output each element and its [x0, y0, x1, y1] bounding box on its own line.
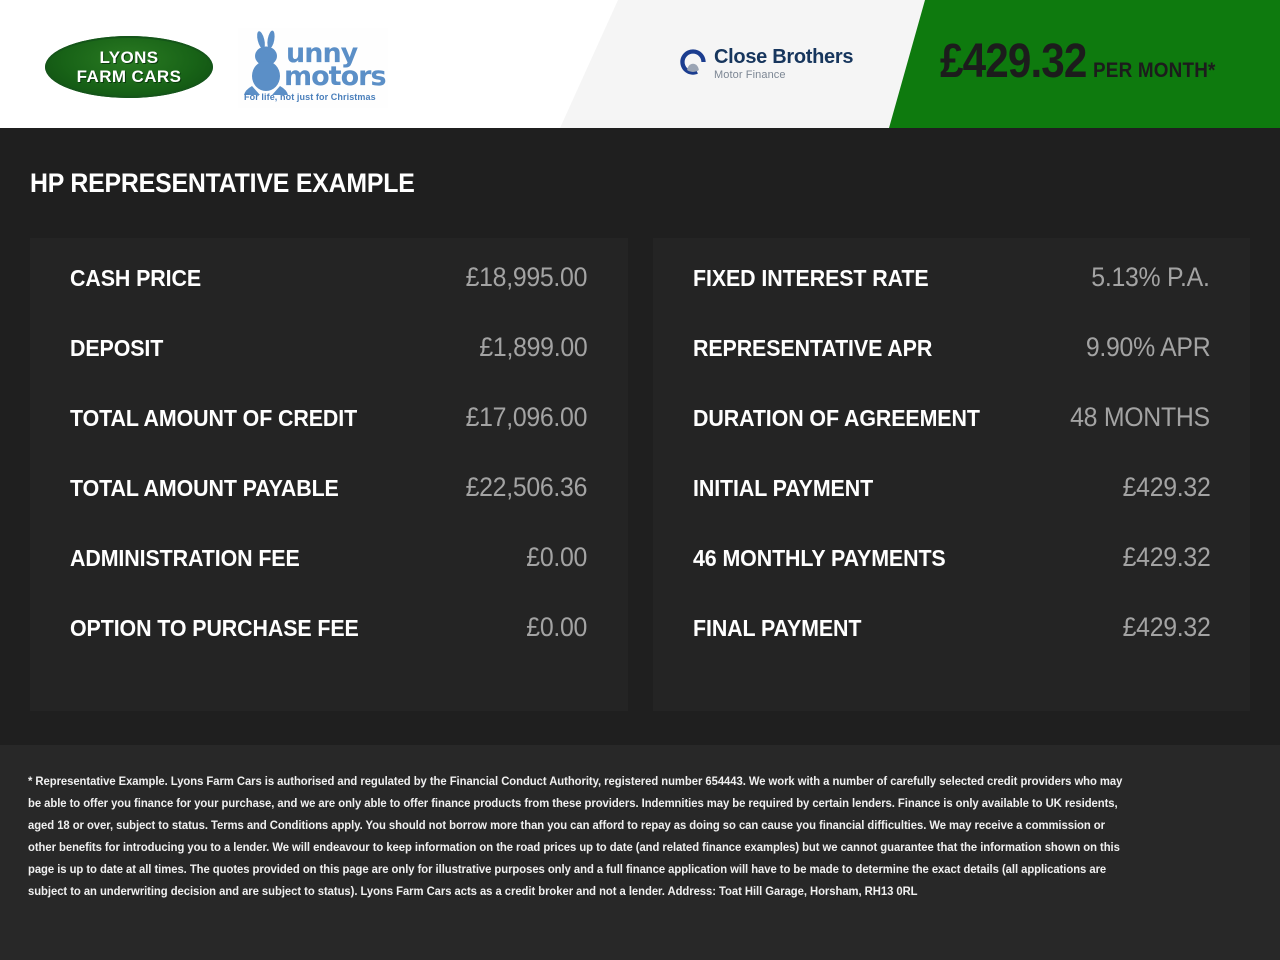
monthly-price-suffix: PER MONTH*: [1093, 59, 1216, 83]
page-header: LYONS FARM CARS unny motors For life, no…: [0, 0, 1280, 128]
detail-row-label: TOTAL AMOUNT OF CREDIT: [70, 405, 357, 432]
detail-row-value: £429.32: [1122, 542, 1210, 573]
detail-row-value: £17,096.00: [466, 402, 588, 433]
detail-row-label: ADMINISTRATION FEE: [70, 545, 300, 572]
bunny-logo-word-motors: motors: [284, 61, 386, 92]
finance-details-panels: CASH PRICE£18,995.00DEPOSIT£1,899.00TOTA…: [30, 238, 1250, 711]
close-brothers-mark-icon: [679, 48, 707, 76]
close-brothers-subtitle: Motor Finance: [714, 68, 853, 82]
detail-row-value: £18,995.00: [466, 262, 588, 293]
detail-row-label: FINAL PAYMENT: [693, 615, 861, 642]
lyons-logo-line1: LYONS: [99, 48, 158, 67]
close-brothers-text: Close Brothers Motor Finance: [714, 47, 853, 82]
detail-row: FIXED INTEREST RATE5.13% P.A.: [693, 262, 1211, 332]
detail-row-label: DURATION OF AGREEMENT: [693, 405, 980, 432]
left-details-panel: CASH PRICE£18,995.00DEPOSIT£1,899.00TOTA…: [30, 238, 628, 711]
main-content: HP REPRESENTATIVE EXAMPLE CASH PRICE£18,…: [0, 128, 1280, 745]
bunny-motors-logo[interactable]: unny motors For life, not just for Chris…: [238, 28, 388, 108]
detail-row-label: FIXED INTEREST RATE: [693, 265, 929, 292]
detail-row: 46 MONTHLY PAYMENTS£429.32: [693, 542, 1211, 612]
detail-row: FINAL PAYMENT£429.32: [693, 612, 1211, 682]
detail-row: TOTAL AMOUNT PAYABLE£22,506.36: [70, 472, 588, 542]
lyons-farm-cars-logo[interactable]: LYONS FARM CARS: [45, 36, 213, 98]
detail-row-value: £429.32: [1122, 472, 1210, 503]
page-title: HP REPRESENTATIVE EXAMPLE: [30, 168, 415, 199]
detail-row: REPRESENTATIVE APR9.90% APR: [693, 332, 1211, 402]
finance-example-page: LYONS FARM CARS unny motors For life, no…: [0, 0, 1280, 960]
detail-row: CASH PRICE£18,995.00: [70, 262, 588, 332]
monthly-price-amount: £429.32: [940, 38, 1087, 86]
detail-row: DEPOSIT£1,899.00: [70, 332, 588, 402]
detail-row-value: £429.32: [1122, 612, 1210, 643]
bunny-logo-tagline: For life, not just for Christmas: [244, 92, 376, 102]
detail-row-value: £0.00: [527, 612, 588, 643]
detail-row: OPTION TO PURCHASE FEE£0.00: [70, 612, 588, 682]
detail-row-value: £0.00: [527, 542, 588, 573]
close-brothers-name: Close Brothers: [714, 47, 853, 68]
detail-row: ADMINISTRATION FEE£0.00: [70, 542, 588, 612]
monthly-price-block: £429.32 PER MONTH*: [940, 38, 1229, 86]
detail-row-value: £22,506.36: [466, 472, 588, 503]
detail-row-label: OPTION TO PURCHASE FEE: [70, 615, 359, 642]
page-footer: * Representative Example. Lyons Farm Car…: [0, 745, 1280, 960]
representative-example-disclaimer: * Representative Example. Lyons Farm Car…: [28, 771, 1135, 903]
lyons-logo-line2: FARM CARS: [77, 67, 182, 86]
detail-row-label: 46 MONTHLY PAYMENTS: [693, 545, 946, 572]
detail-row: TOTAL AMOUNT OF CREDIT£17,096.00: [70, 402, 588, 472]
detail-row-label: DEPOSIT: [70, 335, 163, 362]
detail-row-value: £1,899.00: [479, 332, 587, 363]
detail-row: DURATION OF AGREEMENT48 MONTHS: [693, 402, 1211, 472]
detail-row-label: CASH PRICE: [70, 265, 201, 292]
right-details-panel: FIXED INTEREST RATE5.13% P.A.REPRESENTAT…: [653, 238, 1251, 711]
lyons-logo-text: LYONS FARM CARS: [45, 36, 213, 98]
detail-row-label: TOTAL AMOUNT PAYABLE: [70, 475, 339, 502]
detail-row-value: 9.90% APR: [1085, 332, 1210, 363]
detail-row-value: 5.13% P.A.: [1092, 262, 1210, 293]
close-brothers-logo[interactable]: Close Brothers Motor Finance: [679, 47, 859, 87]
detail-row: INITIAL PAYMENT£429.32: [693, 472, 1211, 542]
detail-row-value: 48 MONTHS: [1070, 402, 1210, 433]
detail-row-label: INITIAL PAYMENT: [693, 475, 873, 502]
detail-row-label: REPRESENTATIVE APR: [693, 335, 932, 362]
